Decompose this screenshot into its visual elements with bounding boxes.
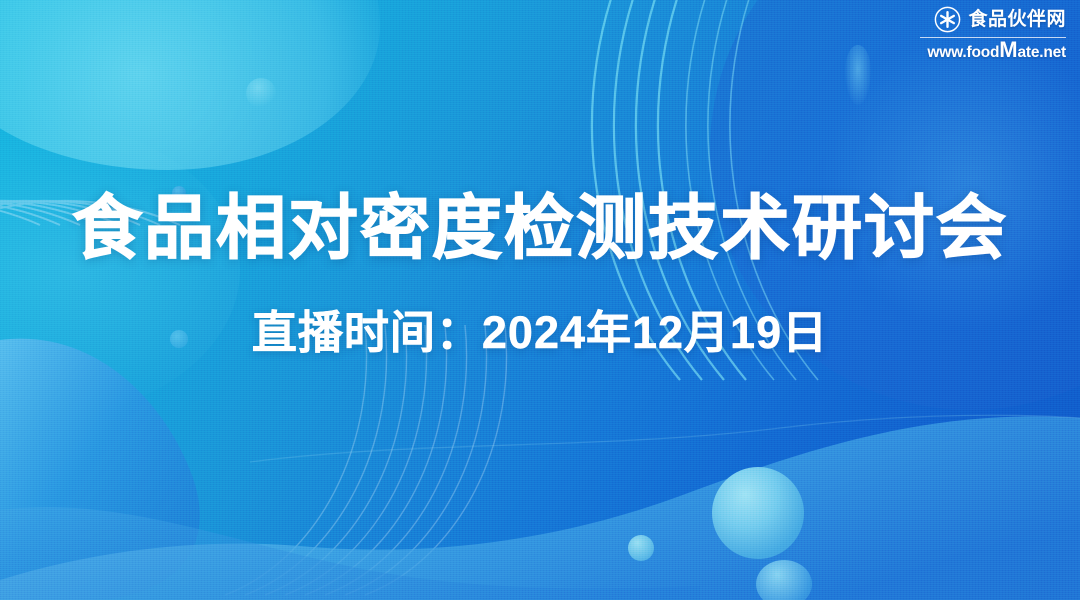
banner-title: 食品相对密度检测技术研讨会 [0, 192, 1080, 266]
promo-banner: 食品伙伴网 www.foodMate.net 食品相对密度检测技术研讨会 直播时… [0, 0, 1080, 600]
logo-url-capital-m: M [999, 40, 1017, 60]
foodmate-logo[interactable]: 食品伙伴网 www.foodMate.net [920, 6, 1066, 61]
logo-divider [920, 37, 1066, 38]
logo-brand-name: 食品伙伴网 [968, 10, 1066, 29]
decorative-teardrop [845, 45, 871, 105]
logo-url-suffix: ate.net [1017, 44, 1066, 61]
decorative-bubble-large [712, 467, 804, 559]
banner-subtitle: 直播时间：2024年12月19日 [0, 308, 1080, 358]
decorative-bubble-top [246, 78, 276, 108]
decorative-blob-top-left [0, 0, 380, 170]
decorative-bubble-medium [756, 560, 812, 600]
headline-block: 食品相对密度检测技术研讨会 直播时间：2024年12月19日 [0, 192, 1080, 357]
decorative-bubble-small [628, 535, 654, 561]
logo-url-prefix: www.food [927, 44, 999, 61]
decorative-arc-rings-center [215, 325, 635, 595]
logo-url[interactable]: www.foodMate.net [927, 40, 1066, 61]
foodmate-snowflake-icon [934, 6, 961, 33]
logo-row: 食品伙伴网 [934, 6, 1066, 33]
